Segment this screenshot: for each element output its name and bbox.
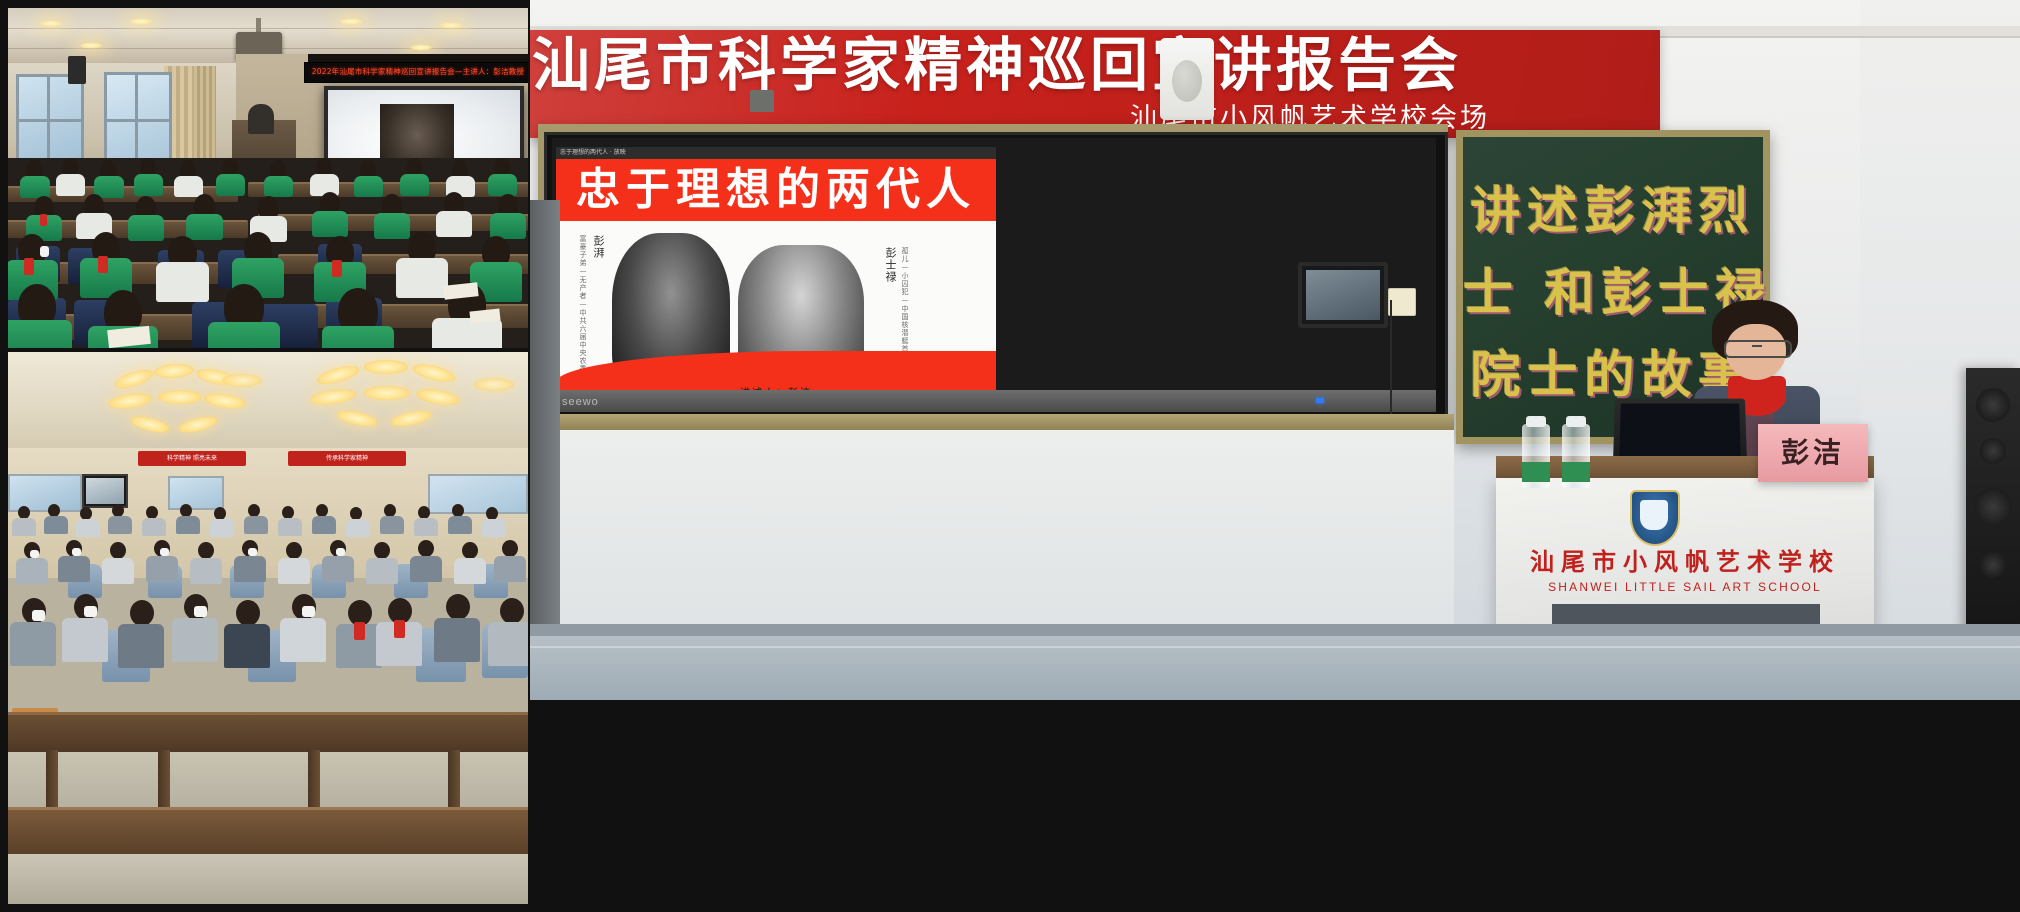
screenshot-composite: 2022年汕尾市科学家精神巡回宣讲报告会—主讲人：彭洁教授 忠于理想的两代人	[0, 0, 2020, 912]
floor-standing-speaker	[1966, 368, 2020, 638]
floor-seam	[530, 646, 2020, 648]
portrait-two-name: 彭士禄	[882, 247, 898, 289]
audience-area	[8, 158, 528, 348]
lower-wall	[538, 430, 1454, 636]
railing-post	[158, 750, 170, 812]
power-led-icon	[1316, 398, 1324, 403]
banner-clip	[750, 90, 774, 112]
podium-school-name-cn: 汕尾市小风帆艺术学校	[1496, 548, 1874, 576]
display-bezel	[552, 390, 1436, 412]
glasses-bridge	[1752, 345, 1762, 347]
crest-sail-shape	[1640, 500, 1668, 530]
laptop-screen[interactable]	[1619, 404, 1741, 458]
wall-speaker-icon	[68, 56, 86, 84]
slide-title: 忠于理想的两代人	[556, 159, 996, 221]
speaker-figure	[248, 104, 274, 134]
wall-banner-left: 科学精神 照亮未来	[138, 451, 246, 466]
glasses-icon	[1724, 340, 1792, 358]
presentation-slide[interactable]: 忠于理想的两代人 · 放映 忠于理想的两代人 彭湃 富豪子弟—无产者—中共六届中…	[556, 147, 996, 405]
school-crest-icon	[1630, 490, 1680, 546]
wall-banner-right: 传承科学家精神	[288, 451, 406, 466]
railing-post	[448, 750, 460, 808]
podium-school-name-en: SHANWEI LITTLE SAIL ART SCHOOL	[1496, 578, 1874, 596]
bottle-cap	[1566, 416, 1586, 427]
name-plate-text: 彭洁	[1758, 424, 1868, 482]
event-banner-title: 汕尾市科学家精神巡回宣讲报告会	[532, 32, 1652, 98]
slide-body: 彭湃 富豪子弟—无产者—中共六届中央农委书记 彭士禄 孤儿—小囚犯—中国核潜艇首…	[556, 221, 996, 405]
crowd-area	[8, 502, 528, 722]
ceiling-light-cluster	[308, 358, 468, 430]
speaker-at-podium-photo: 汕尾市科学家精神巡回宣讲报告会 汕尾市小风帆艺术学校会场 忠于理想的两代人 · …	[530, 0, 2020, 700]
bottle-label	[1522, 462, 1550, 482]
floor	[8, 854, 528, 904]
wall-banner-left-text: 科学精神 照亮未来	[138, 451, 246, 466]
speaker-grill	[1172, 60, 1202, 102]
railing-post	[46, 750, 58, 812]
chalkboard-line-1: 讲述彭湃烈	[1463, 171, 1763, 243]
portrait-one-name: 彭湃	[590, 235, 606, 277]
railing-post	[308, 750, 320, 810]
ceiling-wall-speaker-icon	[1160, 38, 1214, 120]
name-plate: 彭洁	[1758, 424, 1868, 482]
door-edge	[530, 200, 560, 636]
display-brand-label: seewo	[562, 396, 632, 408]
wall-monitor-screen	[1306, 270, 1380, 320]
laptop[interactable]	[1613, 399, 1747, 465]
auditorium-crowd-photo: 科学精神 照亮未来 传承科学家精神	[8, 352, 528, 904]
lecture-hall-audience-photo: 2022年汕尾市科学家精神巡回宣讲报告会—主讲人：彭洁教授 忠于理想的两代人	[8, 8, 528, 348]
bottle-cap	[1526, 416, 1546, 427]
bottle-label	[1562, 462, 1590, 482]
slide-toolbar[interactable]: 忠于理想的两代人 · 放映	[556, 147, 996, 159]
wall-outlet-icon	[1388, 288, 1416, 316]
led-banner-text: 2022年汕尾市科学家精神巡回宣讲报告会—主讲人：彭洁教授	[308, 65, 528, 78]
wall-monitor-screen	[86, 478, 124, 504]
wall-banner-right-text: 传承科学家精神	[288, 451, 406, 466]
wall-monitor	[1298, 262, 1388, 328]
event-banner: 汕尾市科学家精神巡回宣讲报告会 汕尾市小风帆艺术学校会场	[530, 30, 1660, 138]
